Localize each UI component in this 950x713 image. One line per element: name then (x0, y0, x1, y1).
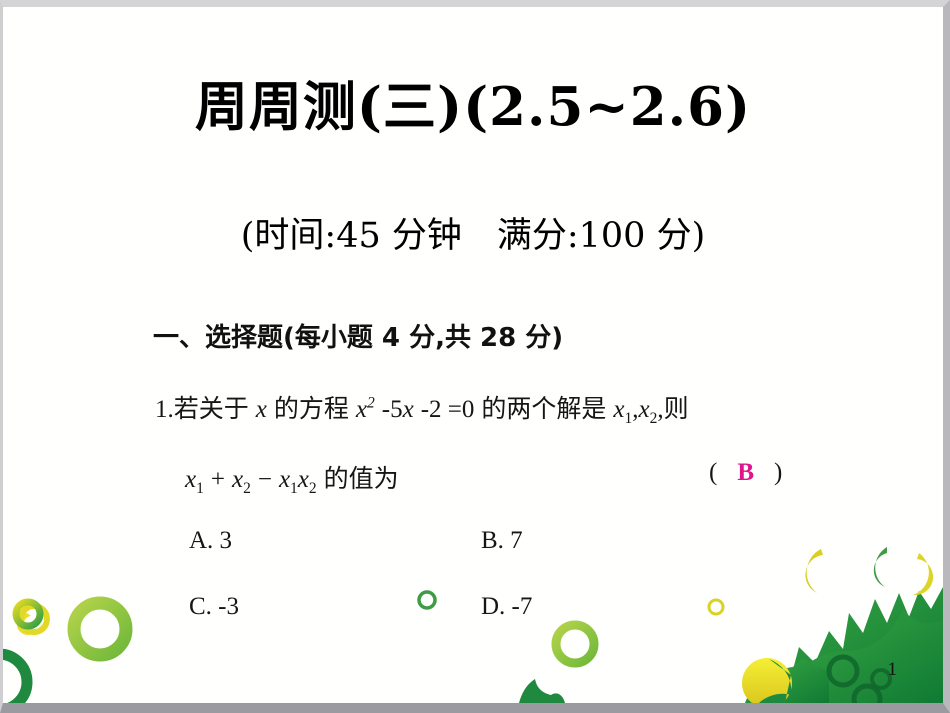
page-title: 周周测(三)(2.5~2.6) (3, 65, 943, 141)
crescent-green-right (874, 547, 887, 587)
question-1-after: 的两个解是 (481, 396, 606, 423)
page-number: 1 (888, 659, 898, 681)
answer-bracket: (B) (709, 459, 782, 487)
root-1-var: x (613, 396, 624, 423)
equation-var-1: x (356, 396, 367, 423)
crescent-gold-right (913, 553, 933, 595)
expr-x1b: x (279, 466, 290, 493)
footer-decoration-svg (3, 547, 943, 703)
crescent-gold-left (805, 549, 823, 593)
question-1-line-2: x1+x2−x1x2的值为 (185, 459, 399, 498)
question-1-line-1: 1.若关于x的方程x2-5x-2 =0的两个解是x1,x2,则 (155, 389, 689, 428)
expr-x1: x (185, 466, 196, 493)
ring-small-green-mid (419, 592, 435, 608)
equation-term-2: -5 (382, 396, 403, 423)
section-heading-multiple-choice: 一、选择题(每小题 4 分,共 28 分) (153, 317, 563, 354)
footer-decoration (3, 547, 943, 703)
answer-key-letter: B (717, 459, 774, 486)
ring-lime-right (556, 625, 594, 663)
equation-tail: -2 =0 (421, 396, 475, 423)
slide-canvas: 周周测(三)(2.5~2.6) (时间:45 分钟 满分:100 分) 一、选择… (3, 7, 943, 703)
expr-x2b-sub: 2 (309, 480, 317, 497)
question-1-line2-tail: 的值为 (324, 466, 399, 493)
expr-x1b-sub: 1 (290, 480, 298, 497)
exam-info-subtitle: (时间:45 分钟 满分:100 分) (3, 207, 943, 258)
equation-exponent: 2 (367, 395, 375, 412)
root-2-var: x (639, 396, 650, 423)
ring-big-lime (74, 603, 126, 655)
ring-bottom-left-dark (3, 654, 27, 703)
expr-x1-sub: 1 (196, 480, 204, 497)
question-1-mid: 的方程 (274, 396, 349, 423)
answer-close-paren: ) (774, 459, 782, 486)
question-1-variable: x (256, 396, 267, 423)
expr-x2-sub: 2 (243, 480, 251, 497)
green-sprout (519, 679, 565, 703)
slide-frame: 周周测(三)(2.5~2.6) (时间:45 分钟 满分:100 分) 一、选择… (0, 0, 950, 713)
expr-x2: x (232, 466, 243, 493)
ring-tiny-yellow (709, 600, 723, 614)
question-1-line1-end: ,则 (657, 396, 688, 423)
expr-x2b: x (298, 466, 309, 493)
equation-var-2: x (403, 396, 414, 423)
question-1-prefix: 1.若关于 (155, 396, 249, 423)
